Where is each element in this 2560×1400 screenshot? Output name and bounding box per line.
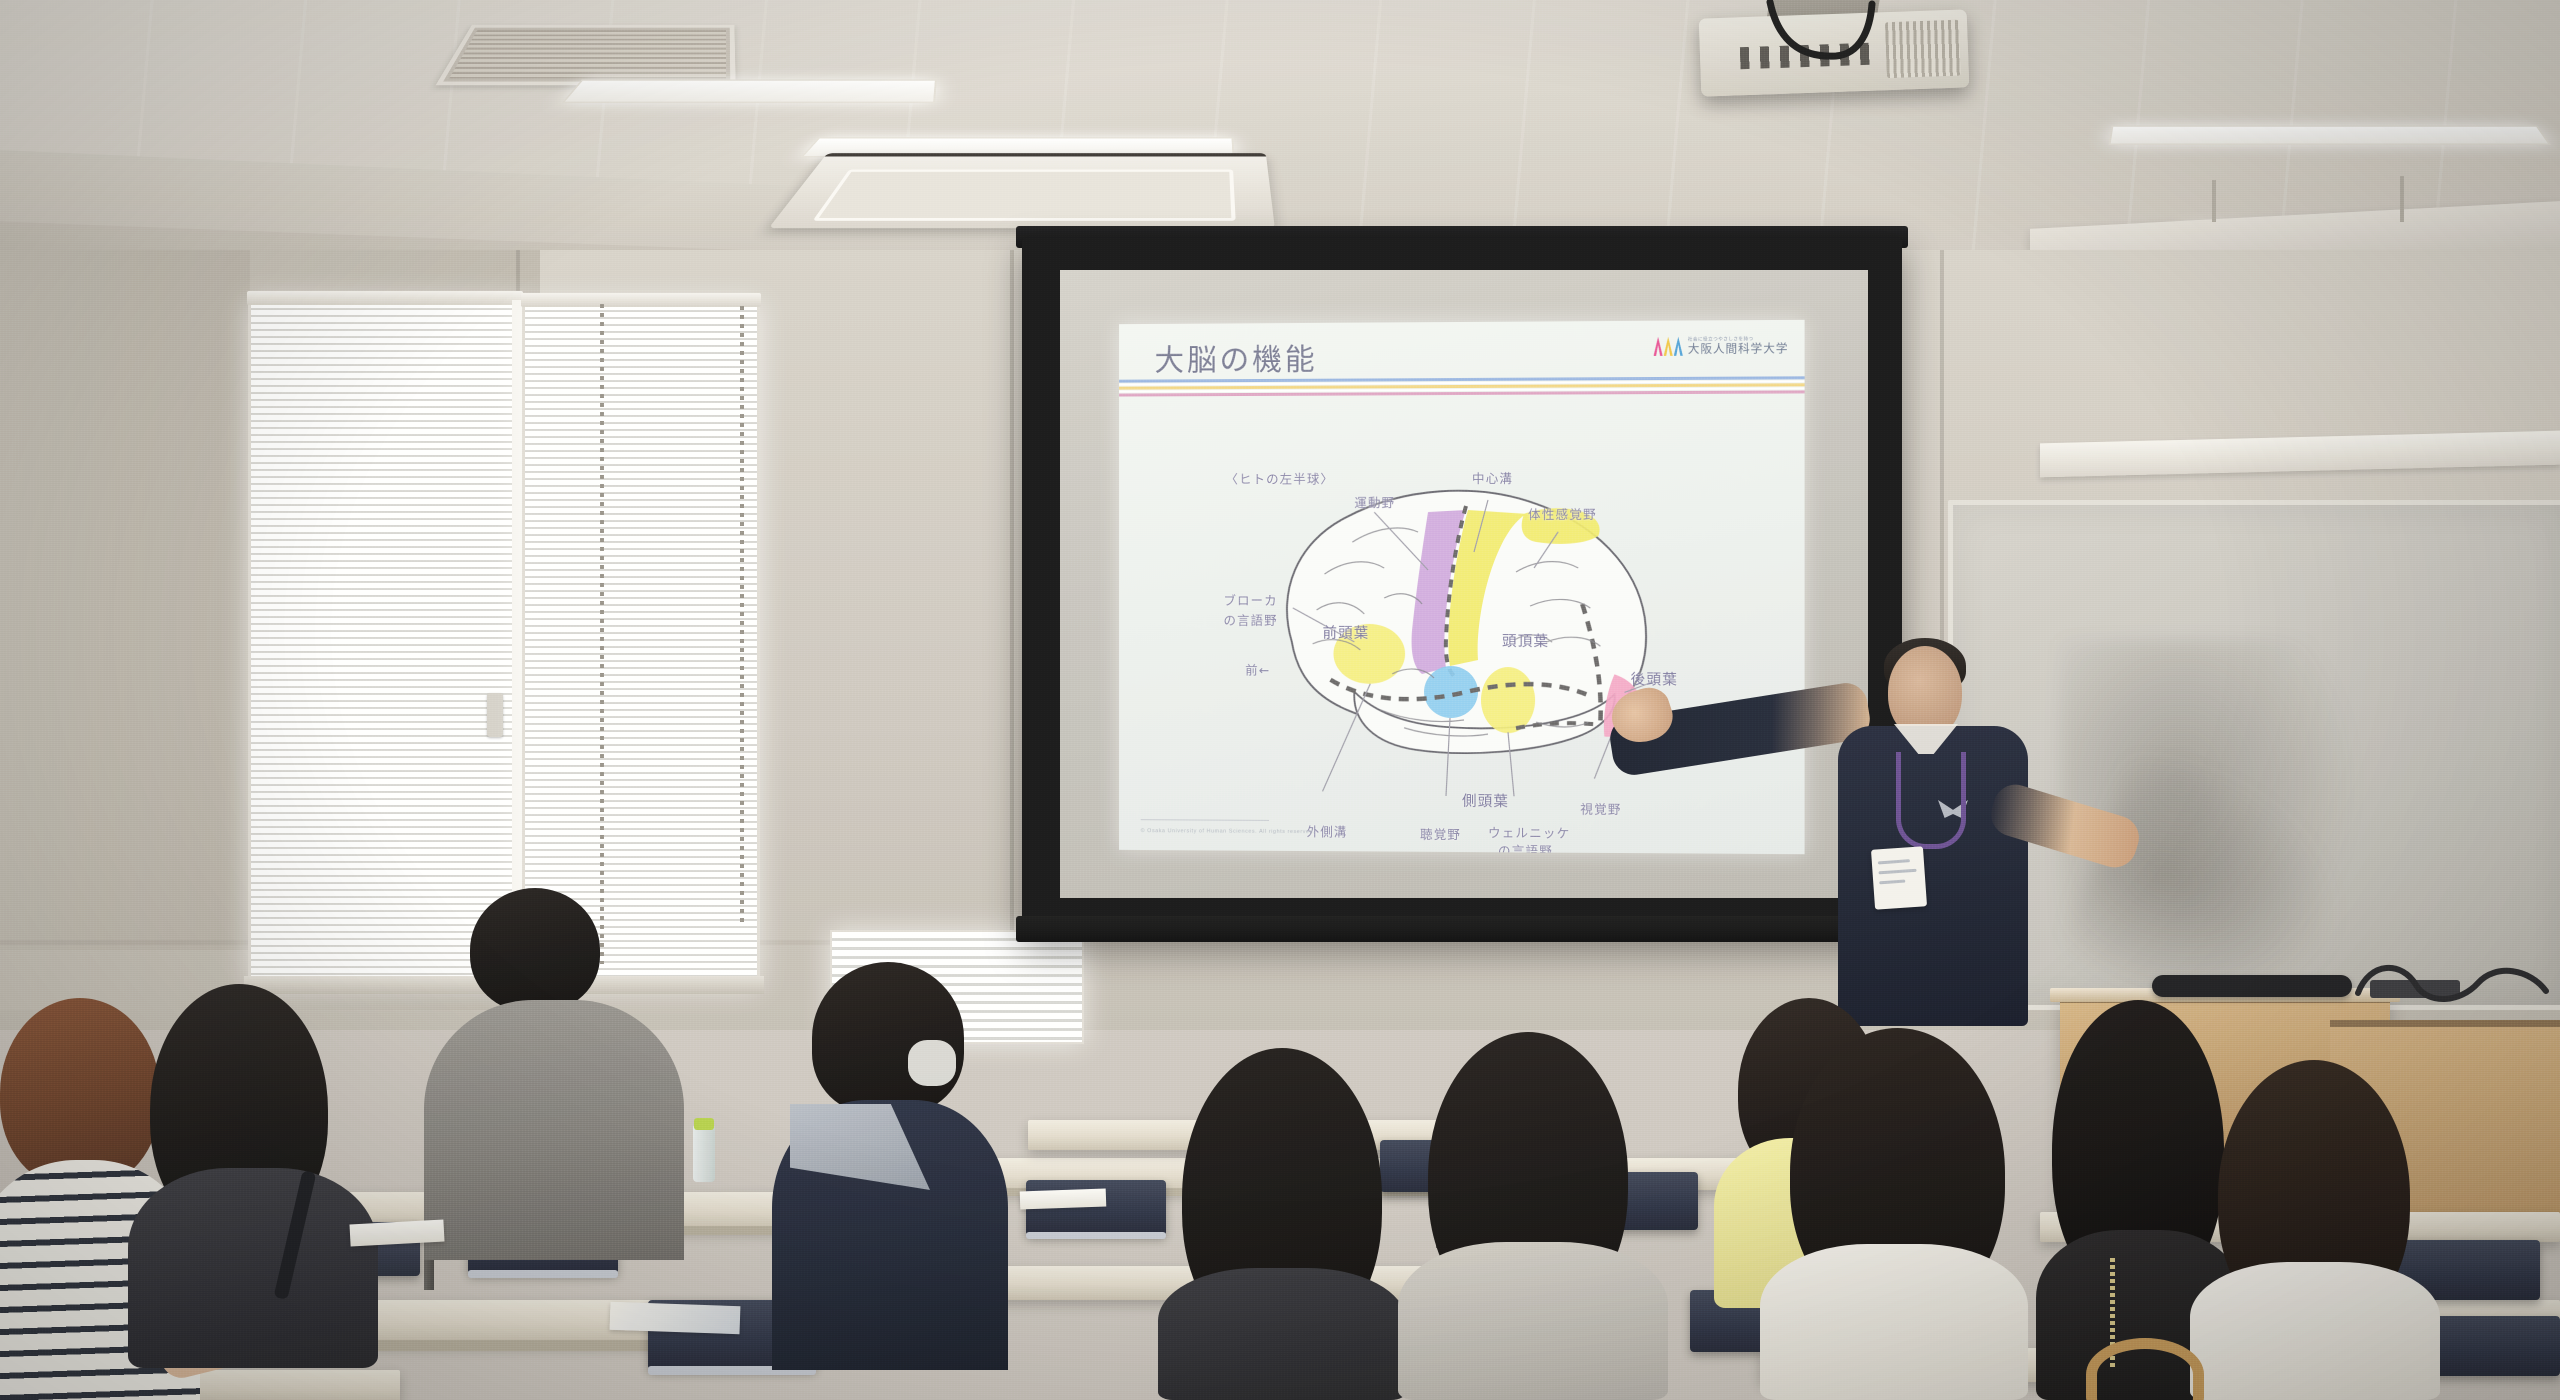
- slide-title: 大脳の機能: [1154, 335, 1317, 380]
- audience-hair: [470, 888, 600, 1012]
- university-logo: 社会に役立つやさしさを持つ 大阪人間科学大学: [1654, 336, 1789, 356]
- air-conditioner-unit: [769, 153, 1275, 228]
- lanyard: [1896, 752, 1966, 849]
- window-left: [248, 300, 522, 986]
- equipment-case: [2152, 975, 2352, 997]
- audience-torso: [1760, 1244, 2028, 1400]
- paper-handout[interactable]: [1020, 1189, 1107, 1210]
- blinds-headrail: [247, 291, 523, 305]
- logo-mark-icon: [1654, 337, 1683, 356]
- window-blinds[interactable]: [251, 303, 519, 983]
- label-motor-cortex: 運動野: [1354, 492, 1395, 511]
- screen-bottom-bar: [1016, 916, 1908, 942]
- audience-torso: [424, 1000, 684, 1260]
- label-parietal-lobe: 頭頂葉: [1502, 630, 1549, 651]
- ceiling-vent-icon: [436, 25, 736, 85]
- label-visual-cortex: 視覚野: [1580, 799, 1621, 818]
- water-bottle: [693, 1124, 715, 1182]
- audience-torso: [1158, 1268, 1406, 1400]
- hanger-rod: [2400, 176, 2404, 222]
- projector-cable: [1730, 0, 1950, 110]
- window-latch[interactable]: [487, 693, 503, 737]
- chair-frame: [1026, 1232, 1166, 1239]
- label-temporal-lobe: 側頭葉: [1462, 790, 1509, 811]
- label-central-sulcus: 中心溝: [1472, 468, 1513, 487]
- audience-hair: [812, 962, 964, 1114]
- label-occipital-lobe: 後頭葉: [1631, 668, 1679, 689]
- id-badge: [1871, 846, 1927, 909]
- lecture-hall-photo: 大脳の機能 社会に役立つやさしさを持つ 大阪人間科学大学: [0, 0, 2560, 1400]
- slide: 大脳の機能 社会に役立つやさしさを持つ 大阪人間科学大学: [1119, 320, 1805, 854]
- paper-handout[interactable]: [610, 1302, 741, 1335]
- bottle-cap: [694, 1118, 714, 1130]
- podium-cables: [2350, 955, 2560, 1015]
- slide-copyright: © Osaka University of Human Sciences. Al…: [1141, 828, 1316, 835]
- ceiling-light-fixture: [2108, 126, 2550, 145]
- label-wernicke-line1: ウェルニッケ: [1488, 822, 1570, 842]
- wall-seam: [1010, 250, 1014, 950]
- ceiling-light-fixture: [562, 80, 937, 103]
- audience-torso: [1398, 1242, 1668, 1400]
- label-wernicke-line2: の言語野: [1498, 840, 1553, 854]
- diagram-caption: 〈ヒトの左半球〉: [1225, 468, 1334, 487]
- orientation-label: 前←: [1245, 660, 1270, 679]
- label-broca-line2: の言語野: [1224, 610, 1278, 629]
- logo-name: 大阪人間科学大学: [1688, 342, 1788, 355]
- label-broca-line1: ブローカ: [1224, 590, 1278, 609]
- label-frontal-lobe: 前頭葉: [1323, 622, 1370, 643]
- brain-diagram: [1119, 390, 1805, 834]
- blinds-cord[interactable]: [600, 304, 604, 964]
- audience-torso: [128, 1168, 378, 1368]
- window-blinds[interactable]: [525, 305, 757, 985]
- audience-torso: [2190, 1262, 2440, 1400]
- chair-frame: [468, 1270, 618, 1278]
- face-mask: [908, 1040, 956, 1086]
- blinds-cord[interactable]: [740, 306, 744, 926]
- hanger-rod: [2212, 180, 2216, 222]
- label-auditory-area: 聴覚野: [1420, 824, 1461, 843]
- wall-column: [0, 250, 250, 950]
- blinds-headrail: [521, 293, 761, 307]
- label-somatosensory-area: 体性感覚野: [1528, 504, 1597, 523]
- window-right: [522, 302, 760, 988]
